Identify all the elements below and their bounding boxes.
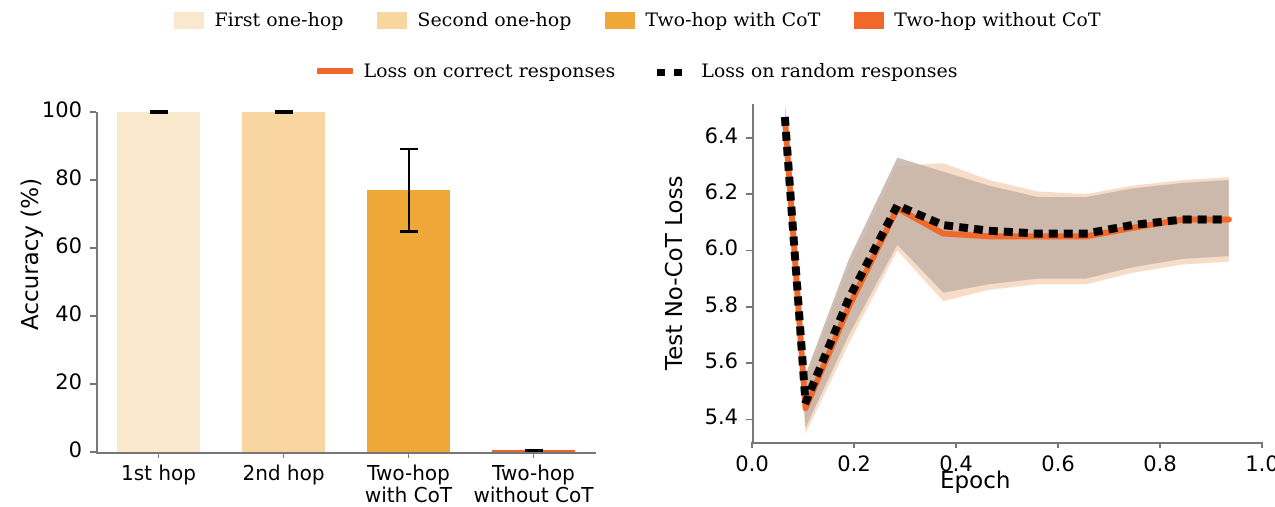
bar-1 — [242, 112, 325, 452]
bar-y-tick — [90, 179, 96, 181]
line-plot-canvas — [640, 0, 1275, 500]
bar-y-tick-label: 80 — [0, 166, 82, 190]
error-bar-2 — [397, 148, 421, 233]
bar-x-spine — [96, 452, 596, 454]
bar-y-tick-label: 40 — [0, 302, 82, 326]
error-bar-0 — [147, 110, 171, 114]
figure-root: First one-hopSecond one-hopTwo-hop with … — [0, 0, 1275, 500]
bar-x-tick — [408, 452, 410, 458]
bar-x-tick-label-0: 1st hop — [96, 462, 221, 484]
bar-0 — [117, 112, 200, 452]
bar-y-tick-label: 0 — [0, 438, 82, 462]
bar-x-tick — [158, 452, 160, 458]
bar-x-tick-label-1: 2nd hop — [221, 462, 346, 484]
bar-x-tick — [283, 452, 285, 458]
bar-y-tick-label: 60 — [0, 234, 82, 258]
bar-y-tick-label: 100 — [0, 98, 82, 122]
bar-y-tick — [90, 247, 96, 249]
accuracy-bar-chart: Accuracy (%) 020406080100 1st hop2nd hop… — [0, 0, 640, 500]
test-loss-line-chart: Test No-CoT Loss Epoch 5.45.65.86.06.26.… — [640, 0, 1275, 500]
bar-y-tick — [90, 383, 96, 385]
error-bar-1 — [272, 110, 296, 114]
bar-y-spine — [96, 112, 98, 454]
bar-y-tick — [90, 451, 96, 453]
bar-x-tick-label-3: Two-hopwithout CoT — [471, 462, 596, 507]
bar-x-tick — [533, 452, 535, 458]
bar-y-tick-label: 20 — [0, 370, 82, 394]
bar-y-tick — [90, 111, 96, 113]
bar-x-tick-label-2: Two-hopwith CoT — [346, 462, 471, 507]
bar-y-tick — [90, 315, 96, 317]
